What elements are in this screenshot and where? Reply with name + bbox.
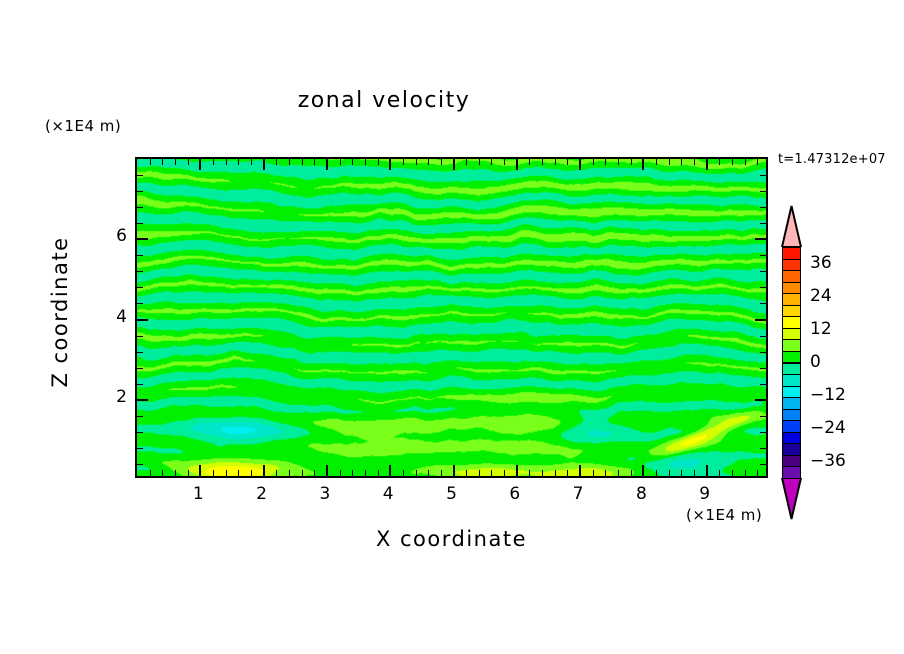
colorbar-tick-label: −12 [810,385,846,405]
colorbar-tick-label: 0 [810,352,821,372]
x-tick-label: 9 [690,484,720,504]
colorbar-over-cap [780,205,803,247]
colorbar [780,205,804,520]
colorbar-tick-label: −24 [810,418,846,438]
x-tick-label: 7 [563,484,593,504]
figure-canvas: zonal velocity (×1E4 m) t=1.47312e+07 12… [0,0,904,654]
y-axis-title: Z coordinate [48,212,72,412]
chart-title: zonal velocity [0,88,768,113]
x-tick-label: 2 [247,484,277,504]
x-tick-label: 5 [437,484,467,504]
contour-plot-area [135,157,768,478]
zonal-velocity-field [137,159,766,476]
y-axis-unit-label: (×1E4 m) [45,117,121,135]
x-tick-label: 1 [183,484,213,504]
x-axis-title: X coordinate [135,527,768,551]
y-tick-label: 4 [105,307,127,327]
y-tick-label: 2 [105,387,127,407]
x-axis-unit-label: (×1E4 m) [686,506,762,524]
colorbar-tick-label: 24 [810,286,832,306]
colorbar-tick-label: −36 [810,451,846,471]
x-tick-label: 4 [373,484,403,504]
colorbar-under-cap [780,478,803,520]
colorbar-tick-label: 12 [810,319,832,339]
y-tick-label: 6 [105,226,127,246]
timestamp-annotation: t=1.47312e+07 [778,152,886,167]
x-tick-label: 6 [500,484,530,504]
x-tick-label: 8 [626,484,656,504]
x-tick-label: 3 [310,484,340,504]
colorbar-tick-label: 36 [810,253,832,273]
